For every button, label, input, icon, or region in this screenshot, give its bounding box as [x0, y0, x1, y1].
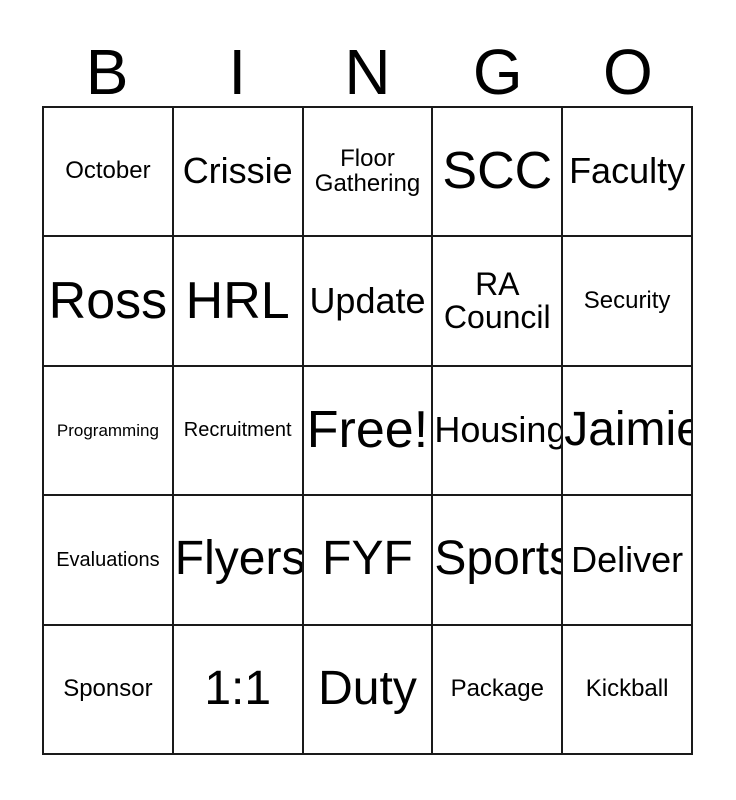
bingo-cell-label: Recruitment [175, 420, 301, 440]
bingo-cell[interactable]: SCC [433, 108, 563, 237]
bingo-cell-label: Jaimie [564, 406, 690, 455]
bingo-cell-label: HRL [175, 275, 301, 328]
bingo-cell-label: SCC [434, 145, 560, 198]
bingo-cell[interactable]: Faculty [563, 108, 693, 237]
header-letter-b: B [42, 24, 172, 104]
bingo-cell-label: Crissie [175, 153, 301, 190]
bingo-cell-label: Sponsor [45, 677, 171, 701]
bingo-cell-free[interactable]: Free! [304, 367, 434, 496]
bingo-grid: October Crissie Floor Gathering SCC Facu… [42, 106, 693, 755]
bingo-cell[interactable]: Security [563, 237, 693, 366]
bingo-cell[interactable]: FYF [304, 496, 434, 625]
bingo-cell[interactable]: Recruitment [174, 367, 304, 496]
bingo-cell-label: Floor Gathering [305, 147, 431, 196]
bingo-cell-label: FYF [305, 535, 431, 584]
bingo-cell[interactable]: Crissie [174, 108, 304, 237]
bingo-cell[interactable]: Sports [433, 496, 563, 625]
bingo-cell-label: 1:1 [175, 665, 301, 714]
bingo-cell-label: Programming [45, 422, 171, 439]
bingo-cell-label: Sports [434, 535, 560, 584]
bingo-cell[interactable]: RA Council [433, 237, 563, 366]
bingo-cell-label: Update [305, 283, 431, 320]
bingo-cell[interactable]: Ross [44, 237, 174, 366]
bingo-cell-label: RA Council [434, 268, 560, 333]
bingo-cell[interactable]: 1:1 [174, 626, 304, 755]
bingo-cell-label: Ross [45, 275, 171, 328]
bingo-header-row: B I N G O [42, 24, 693, 104]
bingo-cell[interactable]: Sponsor [44, 626, 174, 755]
bingo-cell-label: Package [434, 677, 560, 701]
bingo-cell[interactable]: Update [304, 237, 434, 366]
bingo-cell[interactable]: HRL [174, 237, 304, 366]
bingo-cell[interactable]: Housing [433, 367, 563, 496]
bingo-cell[interactable]: Floor Gathering [304, 108, 434, 237]
bingo-cell-label: Kickball [564, 677, 690, 701]
bingo-cell-label: Evaluations [45, 550, 171, 570]
bingo-cell[interactable]: Programming [44, 367, 174, 496]
header-letter-n: N [302, 24, 432, 104]
bingo-cell[interactable]: Deliver [563, 496, 693, 625]
bingo-card: B I N G O October Crissie Floor Gatherin… [0, 0, 736, 800]
bingo-cell[interactable]: Evaluations [44, 496, 174, 625]
bingo-cell[interactable]: Duty [304, 626, 434, 755]
bingo-cell-label: Duty [305, 665, 431, 714]
bingo-cell-label: Deliver [564, 542, 690, 579]
bingo-cell[interactable]: Flyers [174, 496, 304, 625]
bingo-cell-label: Free! [305, 404, 431, 457]
bingo-cell[interactable]: Package [433, 626, 563, 755]
header-letter-o: O [563, 24, 693, 104]
bingo-cell-label: October [45, 159, 171, 183]
bingo-cell[interactable]: October [44, 108, 174, 237]
bingo-cell-label: Security [564, 289, 690, 313]
bingo-cell[interactable]: Jaimie [563, 367, 693, 496]
bingo-cell-label: Faculty [564, 153, 690, 190]
header-letter-g: G [433, 24, 563, 104]
header-letter-i: I [172, 24, 302, 104]
bingo-cell[interactable]: Kickball [563, 626, 693, 755]
bingo-cell-label: Flyers [175, 535, 301, 584]
bingo-cell-label: Housing [434, 412, 560, 449]
